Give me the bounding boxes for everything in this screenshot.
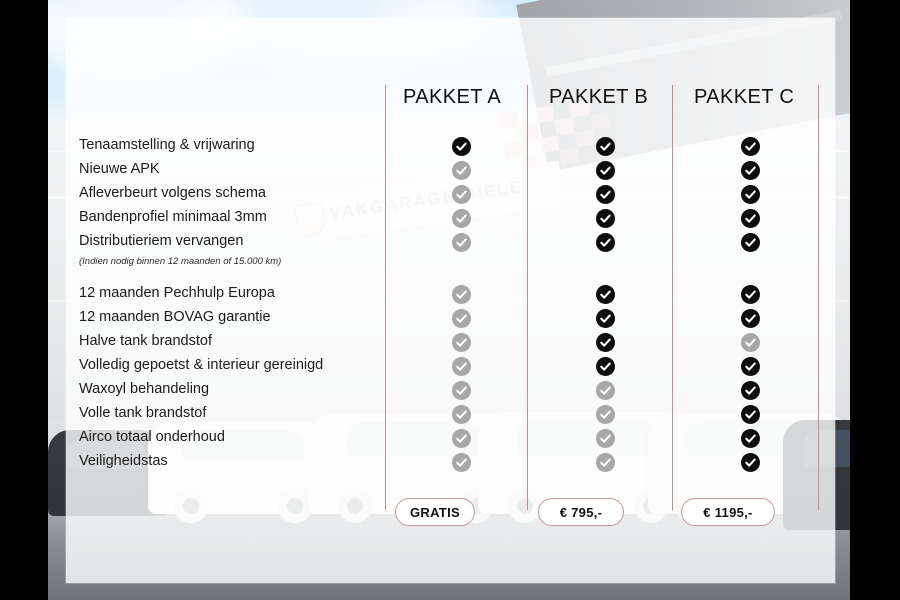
check-included-icon <box>596 333 615 352</box>
check-excluded-icon <box>452 185 471 204</box>
price-badge-pakket-b[interactable]: € 795,- <box>538 498 624 526</box>
feature-label: 12 maanden BOVAG garantie <box>79 310 271 325</box>
feature-label: Afleverbeurt volgens schema <box>79 186 266 201</box>
feature-label: Bandenprofiel minimaal 3mm <box>79 210 267 225</box>
check-included-icon <box>741 405 760 424</box>
feature-label: Veiligheidstas <box>79 454 168 469</box>
pricing-table-card: PAKKET A PAKKET B PAKKET C Tenaamstellin… <box>66 18 835 583</box>
letterbox-left <box>0 0 48 600</box>
check-included-icon <box>741 161 760 180</box>
column-divider <box>527 85 528 510</box>
feature-label: Distributieriem vervangen <box>79 234 243 249</box>
check-excluded-icon <box>452 161 471 180</box>
column-header-pakket-b: PAKKET B <box>549 86 648 109</box>
feature-label: 12 maanden Pechhulp Europa <box>79 286 275 301</box>
check-included-icon <box>596 285 615 304</box>
check-excluded-icon <box>596 429 615 448</box>
check-included-icon <box>741 453 760 472</box>
feature-label: Nieuwe APK <box>79 162 160 177</box>
feature-label: Halve tank brandstof <box>79 334 212 349</box>
feature-label: Waxoyl behandeling <box>79 382 209 397</box>
feature-label: Volledig gepoetst & interieur gereinigd <box>79 358 323 373</box>
check-included-icon <box>741 309 760 328</box>
column-divider <box>385 85 386 510</box>
check-included-icon <box>741 209 760 228</box>
price-badge-pakket-c[interactable]: € 1195,- <box>681 498 775 526</box>
check-excluded-icon <box>452 405 471 424</box>
column-header-pakket-c: PAKKET C <box>694 86 794 109</box>
check-excluded-icon <box>596 453 615 472</box>
check-excluded-icon <box>452 285 471 304</box>
check-excluded-icon <box>452 309 471 328</box>
check-excluded-icon <box>596 405 615 424</box>
check-excluded-icon <box>452 381 471 400</box>
check-included-icon <box>741 285 760 304</box>
check-included-icon <box>741 429 760 448</box>
feature-label: Airco totaal onderhoud <box>79 430 225 445</box>
check-excluded-icon <box>452 357 471 376</box>
check-included-icon <box>741 381 760 400</box>
check-included-icon <box>596 137 615 156</box>
letterbox-right <box>850 0 900 600</box>
check-excluded-icon <box>452 333 471 352</box>
column-divider <box>672 85 673 510</box>
check-included-icon <box>596 309 615 328</box>
screenshot-stage: VAKGARAGE GIELE <box>0 0 900 600</box>
price-badge-pakket-a[interactable]: GRATIS <box>395 498 475 526</box>
check-included-icon <box>596 161 615 180</box>
feature-note: (Indien nodig binnen 12 maanden of 15.00… <box>79 257 281 267</box>
check-excluded-icon <box>452 453 471 472</box>
check-included-icon <box>596 209 615 228</box>
feature-label: Tenaamstelling & vrijwaring <box>79 138 255 153</box>
check-included-icon <box>596 185 615 204</box>
check-included-icon <box>741 357 760 376</box>
check-included-icon <box>596 233 615 252</box>
check-included-icon <box>741 185 760 204</box>
check-included-icon <box>741 233 760 252</box>
check-included-icon <box>452 137 471 156</box>
feature-label: Volle tank brandstof <box>79 406 206 421</box>
column-header-pakket-a: PAKKET A <box>403 86 501 109</box>
check-excluded-icon <box>596 381 615 400</box>
check-excluded-icon <box>452 233 471 252</box>
check-included-icon <box>741 137 760 156</box>
column-divider <box>818 85 819 510</box>
check-included-icon <box>596 357 615 376</box>
check-excluded-icon <box>452 429 471 448</box>
check-excluded-icon <box>741 333 760 352</box>
check-excluded-icon <box>452 209 471 228</box>
